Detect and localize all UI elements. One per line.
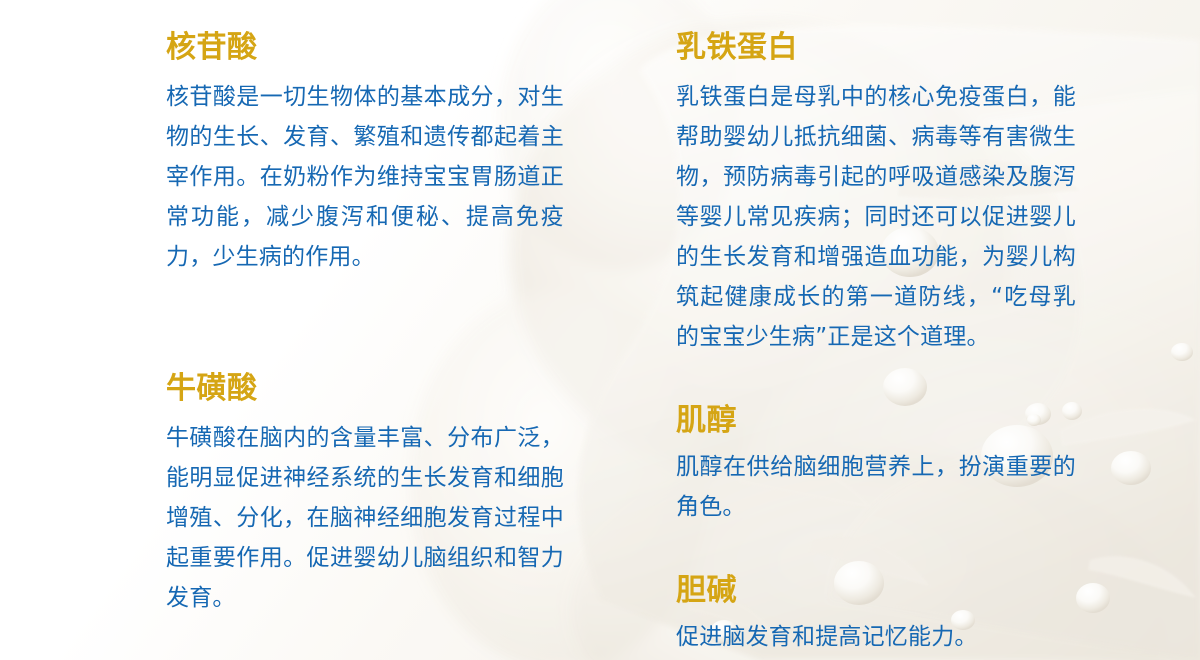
section-taurine: 牛磺酸 牛磺酸在脑内的含量丰富、分布广泛，能明显促进神经系统的生长发育和细胞增殖… <box>166 369 564 618</box>
section-body-taurine: 牛磺酸在脑内的含量丰富、分布广泛，能明显促进神经系统的生长发育和细胞增殖、分化，… <box>166 418 564 618</box>
section-inositol: 肌醇 肌醇在供给脑细胞营养上，扮演重要的角色。 <box>676 401 1076 527</box>
section-heading-choline: 胆碱 <box>676 571 1076 611</box>
section-nucleotide: 核苷酸 核苷酸是一切生物体的基本成分，对生物的生长、发育、繁殖和遗传都起着主宰作… <box>166 28 564 277</box>
right-text-column: 乳铁蛋白 乳铁蛋白是母乳中的核心免疫蛋白，能帮助婴幼儿抵抗细菌、病毒等有害微生物… <box>676 28 1076 657</box>
infographic-panel: 核苷酸 核苷酸是一切生物体的基本成分，对生物的生长、发育、繁殖和遗传都起着主宰作… <box>0 0 1200 660</box>
section-body-nucleotide: 核苷酸是一切生物体的基本成分，对生物的生长、发育、繁殖和遗传都起着主宰作用。在奶… <box>166 77 564 277</box>
section-body-inositol: 肌醇在供给脑细胞营养上，扮演重要的角色。 <box>676 447 1076 527</box>
section-choline: 胆碱 促进脑发育和提高记忆能力。 <box>676 571 1076 657</box>
section-body-choline: 促进脑发育和提高记忆能力。 <box>676 617 1076 657</box>
section-body-lactoferrin: 乳铁蛋白是母乳中的核心免疫蛋白，能帮助婴幼儿抵抗细菌、病毒等有害微生物，预防病毒… <box>676 77 1076 357</box>
section-lactoferrin: 乳铁蛋白 乳铁蛋白是母乳中的核心免疫蛋白，能帮助婴幼儿抵抗细菌、病毒等有害微生物… <box>676 28 1076 357</box>
section-heading-inositol: 肌醇 <box>676 401 1076 441</box>
section-heading-taurine: 牛磺酸 <box>166 369 564 409</box>
left-text-column: 核苷酸 核苷酸是一切生物体的基本成分，对生物的生长、发育、繁殖和遗传都起着主宰作… <box>166 28 564 618</box>
section-heading-lactoferrin: 乳铁蛋白 <box>676 28 1076 68</box>
section-heading-nucleotide: 核苷酸 <box>166 28 564 68</box>
